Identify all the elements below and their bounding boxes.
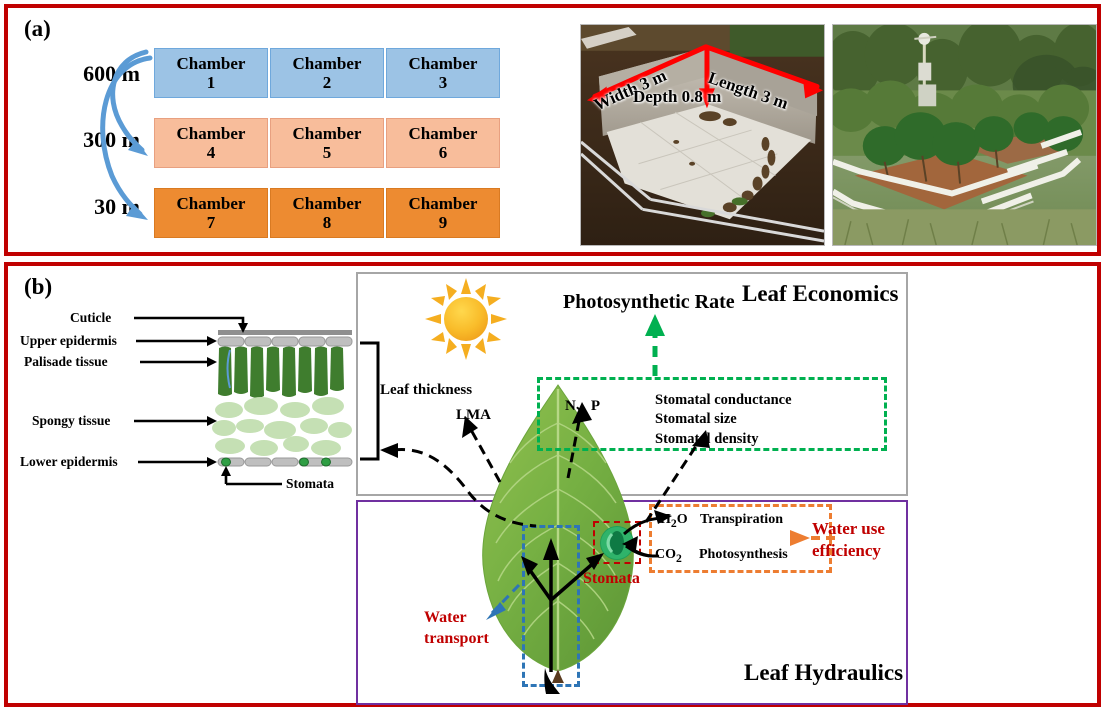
label-stomata-xsec: Stomata bbox=[286, 476, 334, 492]
chamber-box-9[interactable]: Chamber9 bbox=[386, 188, 500, 238]
water-transport-label: Water transport bbox=[424, 608, 516, 650]
chamber-name: Chamber bbox=[293, 124, 362, 143]
stomata-highlight-box bbox=[593, 521, 641, 564]
panel-a-tag: (a) bbox=[24, 16, 51, 42]
photo-field-plots bbox=[832, 24, 1097, 246]
stomatal-trait-1: Stomatal size bbox=[655, 410, 792, 429]
chamber-number: 9 bbox=[439, 213, 448, 232]
leaf-cross-section: Cuticle Upper epidermis Palisade tissue … bbox=[18, 300, 358, 490]
label-spongy-tissue: Spongy tissue bbox=[32, 413, 110, 429]
chamber-box-4[interactable]: Chamber4 bbox=[154, 118, 268, 168]
leaf-hydraulics-title: Leaf Hydraulics bbox=[744, 660, 903, 686]
chamber-name: Chamber bbox=[409, 54, 478, 73]
chamber-number: 1 bbox=[207, 73, 216, 92]
chamber-number: 3 bbox=[439, 73, 448, 92]
label-lower-epidermis: Lower epidermis bbox=[20, 454, 118, 470]
photo-concrete-pit: Width 3 m Length 3 m Depth 0.8 m bbox=[580, 24, 825, 246]
chamber-name: Chamber bbox=[293, 194, 362, 213]
label-cuticle: Cuticle bbox=[70, 310, 111, 326]
stomata-label-hydr: Stomata bbox=[583, 570, 640, 588]
panel-a: (a) 600 m 300 m 30 m Chamber1 Chamber2 C… bbox=[4, 4, 1101, 256]
chamber-name: Chamber bbox=[177, 54, 246, 73]
pit-depth-label: Depth 0.8 m bbox=[633, 87, 721, 107]
sun-icon bbox=[425, 278, 507, 360]
chamber-name: Chamber bbox=[293, 54, 362, 73]
stomatal-trait-2: Stomatal density bbox=[655, 430, 792, 449]
chamber-box-1[interactable]: Chamber1 bbox=[154, 48, 268, 98]
chamber-box-6[interactable]: Chamber6 bbox=[386, 118, 500, 168]
chamber-box-5[interactable]: Chamber5 bbox=[270, 118, 384, 168]
chamber-name: Chamber bbox=[409, 124, 478, 143]
chamber-number: 6 bbox=[439, 143, 448, 162]
photosynthetic-rate-label: Photosynthetic Rate bbox=[563, 291, 735, 314]
leaf-economics-title: Leaf Economics bbox=[742, 281, 899, 307]
chamber-name: Chamber bbox=[409, 194, 478, 213]
chamber-number: 5 bbox=[323, 143, 332, 162]
water-use-efficiency-label: Water use efficiency bbox=[812, 518, 922, 562]
lma-label: LMA bbox=[456, 407, 491, 424]
nutrients-label: N、P bbox=[565, 394, 600, 415]
chamber-number: 4 bbox=[207, 143, 216, 162]
elevation-label-30: 30 m bbox=[44, 194, 140, 220]
chamber-box-8[interactable]: Chamber8 bbox=[270, 188, 384, 238]
water-transport-dashed-box bbox=[522, 525, 580, 687]
elevation-label-300: 300 m bbox=[44, 127, 140, 153]
chamber-number: 8 bbox=[323, 213, 332, 232]
panel-b-tag: (b) bbox=[24, 274, 52, 300]
photosynthesis-label: Photosynthesis bbox=[699, 547, 788, 563]
stomatal-trait-0: Stomatal conductance bbox=[655, 391, 792, 410]
stomatal-traits-list: Stomatal conductance Stomatal size Stoma… bbox=[655, 391, 792, 449]
label-palisade-tissue: Palisade tissue bbox=[24, 354, 108, 370]
figure-root: (a) 600 m 300 m 30 m Chamber1 Chamber2 C… bbox=[0, 0, 1105, 711]
leaf-thickness-label: Leaf thickness bbox=[380, 381, 472, 400]
chamber-box-7[interactable]: Chamber7 bbox=[154, 188, 268, 238]
label-upper-epidermis: Upper epidermis bbox=[20, 333, 117, 349]
chamber-number: 2 bbox=[323, 73, 332, 92]
chamber-box-3[interactable]: Chamber3 bbox=[386, 48, 500, 98]
chamber-number: 7 bbox=[207, 213, 216, 232]
chamber-name: Chamber bbox=[177, 124, 246, 143]
co2-species-label: CO2 bbox=[655, 547, 682, 565]
chamber-box-2[interactable]: Chamber2 bbox=[270, 48, 384, 98]
chamber-name: Chamber bbox=[177, 194, 246, 213]
elevation-label-600: 600 m bbox=[44, 61, 140, 87]
transpiration-label: Transpiration bbox=[700, 512, 783, 528]
h2o-species-label: H2O bbox=[660, 512, 688, 530]
